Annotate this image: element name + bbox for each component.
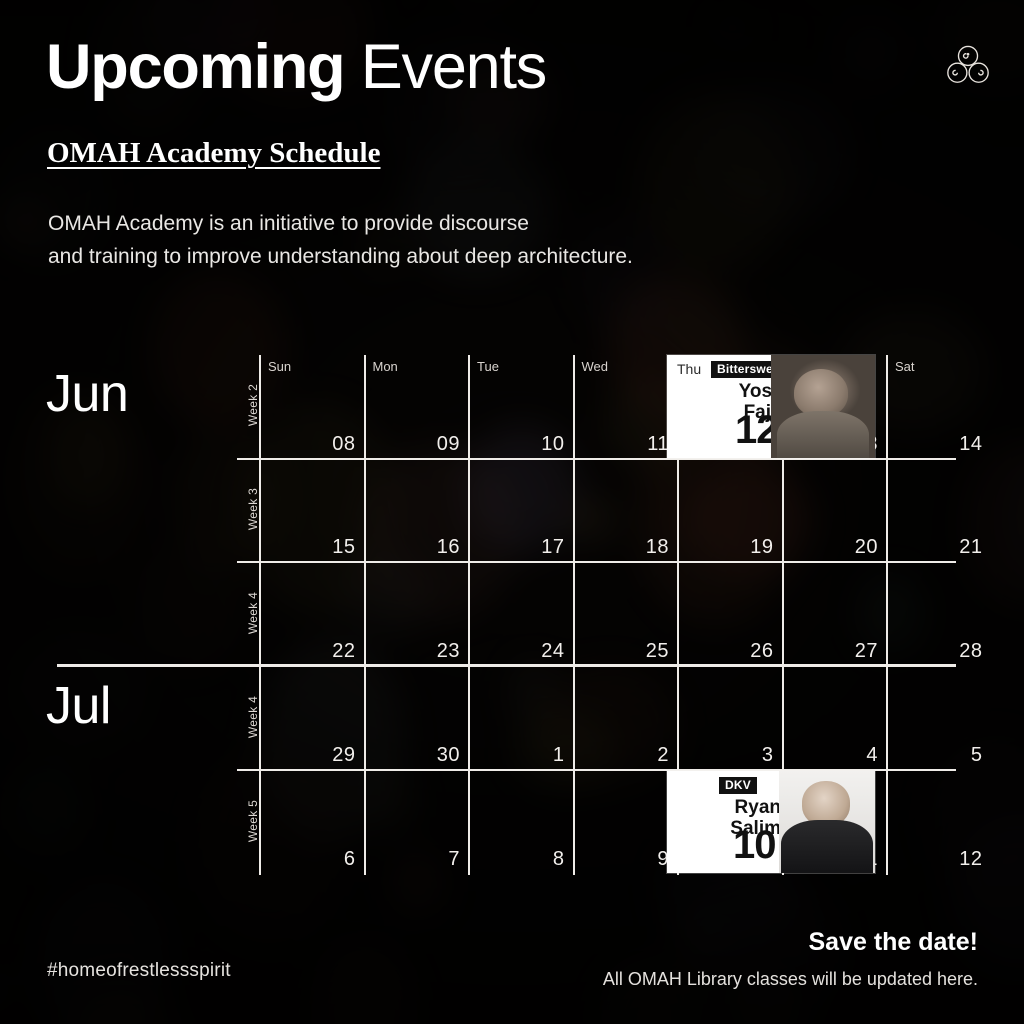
date-number: 10 <box>541 433 564 456</box>
cell-divider <box>468 460 470 563</box>
date-number: 15 <box>332 536 355 559</box>
event-card[interactable]: DKV RyanSalim 10 <box>667 771 875 873</box>
calendar-cell[interactable]: 17 <box>468 460 573 563</box>
date-number: 22 <box>332 640 355 663</box>
date-number: 26 <box>750 640 773 663</box>
week-label: Week 4 <box>246 583 260 643</box>
date-number: 12 <box>959 848 982 871</box>
footer-note: All OMAH Library classes will be updated… <box>603 969 978 990</box>
date-number: 8 <box>553 848 565 871</box>
calendar-cell[interactable]: 28 <box>886 563 991 667</box>
calendar-cell[interactable]: 12 <box>886 771 991 875</box>
cell-divider <box>573 355 575 460</box>
day-of-week-label: Sun <box>268 359 291 374</box>
calendar-cell[interactable]: 8 <box>468 771 573 875</box>
calendar-cell[interactable]: 22 <box>259 563 364 667</box>
calendar-cell[interactable]: 23 <box>364 563 469 667</box>
cell-divider <box>259 667 261 771</box>
calendar-cell[interactable]: 6 <box>259 771 364 875</box>
cell-divider <box>782 667 784 771</box>
calendar-cell[interactable]: 27 <box>782 563 887 667</box>
week-label: Week 3 <box>246 479 260 539</box>
date-number: 25 <box>646 640 669 663</box>
description: OMAH Academy is an initiative to provide… <box>48 208 633 273</box>
calendar-week-row: 22 23 24 <box>259 563 978 667</box>
day-of-week-label: Tue <box>477 359 499 374</box>
day-of-week-label: Mon <box>373 359 398 374</box>
cell-divider <box>364 355 366 460</box>
cell-divider <box>364 771 366 875</box>
cell-divider <box>259 460 261 563</box>
date-number: 08 <box>332 433 355 456</box>
event-date-number: 10 <box>733 825 776 865</box>
month-label-jun: Jun <box>46 364 128 424</box>
date-number: 1 <box>553 744 565 767</box>
date-number: 4 <box>866 744 878 767</box>
speaker-portrait-yoshi-fajar <box>771 355 875 458</box>
date-number: 18 <box>646 536 669 559</box>
date-number: 7 <box>448 848 460 871</box>
page-title-light: Events <box>361 32 546 102</box>
event-category-badge: DKV <box>719 777 757 794</box>
calendar-cell[interactable]: 3 <box>677 667 782 771</box>
cell-divider <box>573 667 575 771</box>
hashtag: #homeofrestlessspirit <box>47 960 231 982</box>
date-number: 21 <box>959 536 982 559</box>
cell-divider <box>364 460 366 563</box>
calendar-cell[interactable]: 26 <box>677 563 782 667</box>
month-label-jul: Jul <box>46 676 111 736</box>
date-number: 24 <box>541 640 564 663</box>
cell-divider <box>468 355 470 460</box>
cell-divider <box>468 563 470 667</box>
week-label: Week 4 <box>246 687 260 747</box>
cell-divider <box>886 563 888 667</box>
calendar-cell[interactable]: 24 <box>468 563 573 667</box>
description-line-1: OMAH Academy is an initiative to provide… <box>48 208 633 241</box>
cell-divider <box>259 355 261 460</box>
calendar-cell[interactable]: Sun 08 <box>259 355 364 460</box>
date-number: 17 <box>541 536 564 559</box>
date-number: 20 <box>855 536 878 559</box>
date-number: 11 <box>647 433 669 456</box>
calendar-week-row: 29 30 1 <box>259 667 978 771</box>
calendar-cell[interactable]: 29 <box>259 667 364 771</box>
event-day-of-week: Thu <box>677 361 701 377</box>
calendar-cell[interactable]: 7 <box>364 771 469 875</box>
calendar-cell[interactable]: 1 <box>468 667 573 771</box>
triskelion-spiral-logo-icon <box>940 38 996 94</box>
cell-divider <box>259 771 261 875</box>
date-number: 23 <box>437 640 460 663</box>
cell-divider <box>364 667 366 771</box>
cell-divider <box>677 460 679 563</box>
calendar-cell[interactable]: 21 <box>886 460 991 563</box>
cell-divider <box>573 771 575 875</box>
cell-divider <box>573 460 575 563</box>
calendar-cell[interactable]: 25 <box>573 563 678 667</box>
calendar-cell[interactable]: Sat 14 <box>886 355 991 460</box>
poster-canvas: Upcoming Events OMAH Academy Schedule OM… <box>0 0 1024 1024</box>
cell-divider <box>677 563 679 667</box>
save-the-date: Save the date! <box>808 928 978 957</box>
calendar-cell[interactable]: 19 <box>677 460 782 563</box>
calendar-cell[interactable]: 16 <box>364 460 469 563</box>
calendar-cell[interactable]: 20 <box>782 460 887 563</box>
cell-divider <box>782 563 784 667</box>
cell-divider <box>259 563 261 667</box>
week-label: Week 2 <box>246 375 260 435</box>
date-number: 19 <box>750 536 773 559</box>
calendar-cell[interactable]: Mon 09 <box>364 355 469 460</box>
cell-divider <box>886 667 888 771</box>
calendar-cell[interactable]: Tue 10 <box>468 355 573 460</box>
cell-divider <box>468 667 470 771</box>
cell-divider <box>886 460 888 563</box>
week-label: Week 5 <box>246 791 260 851</box>
date-number: 09 <box>437 433 460 456</box>
date-number: 28 <box>959 640 982 663</box>
date-number: 5 <box>971 744 983 767</box>
day-of-week-label: Wed <box>582 359 609 374</box>
page-title: Upcoming Events <box>46 33 546 102</box>
cell-divider <box>886 355 888 460</box>
page-title-bold: Upcoming <box>46 32 344 102</box>
calendar-cell[interactable]: 2 <box>573 667 678 771</box>
speaker-portrait-ryan-salim <box>779 771 875 873</box>
calendar-cell[interactable]: 30 <box>364 667 469 771</box>
cell-divider <box>886 771 888 875</box>
calendar-cell[interactable]: 9 <box>573 771 678 875</box>
cell-divider <box>468 771 470 875</box>
date-number: 6 <box>344 848 356 871</box>
calendar-cell[interactable]: 4 <box>782 667 887 771</box>
calendar-cell[interactable]: 5 <box>886 667 991 771</box>
calendar-cell[interactable]: Wed 11 <box>573 355 678 460</box>
calendar-cell[interactable]: 18 <box>573 460 678 563</box>
description-line-2: and training to improve understanding ab… <box>48 241 633 274</box>
cell-divider <box>364 563 366 667</box>
date-number: 3 <box>762 744 774 767</box>
date-number: 16 <box>437 536 460 559</box>
date-number: 30 <box>437 744 460 767</box>
calendar-grid: Week 2Week 3Week 4Week 4Week 5 Sun 08 Mo… <box>237 355 978 875</box>
cell-divider <box>677 667 679 771</box>
day-of-week-label: Sat <box>895 359 915 374</box>
date-number: 14 <box>959 433 982 456</box>
calendar-week-row: 15 16 17 <box>259 460 978 563</box>
date-number: 27 <box>855 640 878 663</box>
event-card[interactable]: Thu Bittersweet YoshiFajar 12 <box>667 355 875 458</box>
calendar-cell[interactable]: 15 <box>259 460 364 563</box>
week-label-column: Week 2Week 3Week 4Week 4Week 5 <box>237 355 259 875</box>
date-number: 29 <box>332 744 355 767</box>
cell-divider <box>573 563 575 667</box>
date-number: 2 <box>657 744 669 767</box>
cell-divider <box>782 460 784 563</box>
subtitle: OMAH Academy Schedule <box>47 137 381 170</box>
